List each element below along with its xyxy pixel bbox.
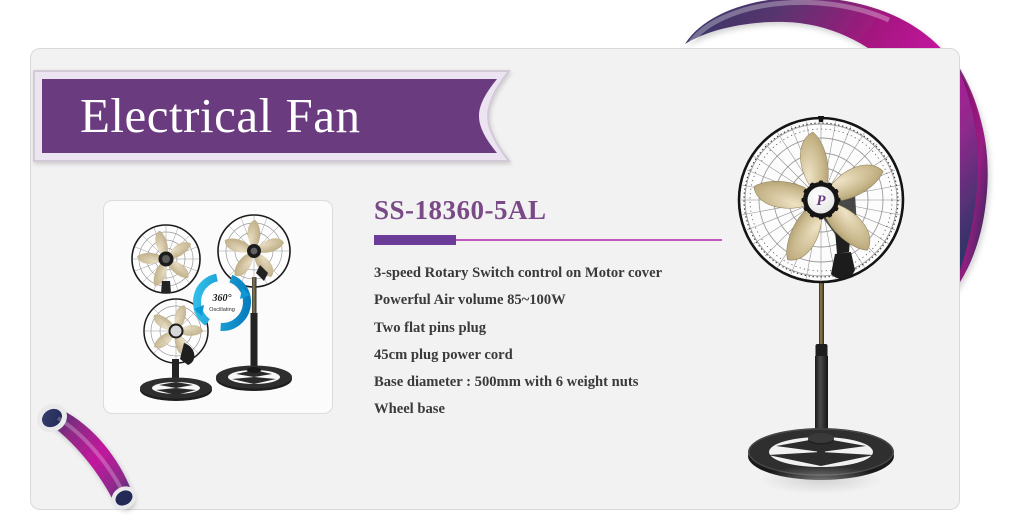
list-item: 3-speed Rotary Switch control on Motor c…: [374, 266, 724, 281]
divider: [374, 234, 722, 246]
badge-degrees: 360°: [212, 293, 232, 304]
specification-list: 3-speed Rotary Switch control on Motor c…: [374, 266, 724, 416]
gallery-image: 360° Oscillating: [104, 201, 332, 413]
thumbnail-gallery[interactable]: 360° Oscillating: [103, 200, 333, 414]
page-title: Electrical Fan: [32, 68, 472, 164]
divider-accent: [374, 235, 456, 245]
list-item: Wheel base: [374, 402, 724, 417]
list-item: Powerful Air volume 85~100W: [374, 293, 724, 308]
list-item: 45cm plug power cord: [374, 348, 724, 363]
product-info: SS-18360-5AL 3-speed Rotary Switch contr…: [374, 196, 724, 429]
product-code: SS-18360-5AL: [374, 196, 724, 224]
hub-logo: P: [816, 193, 826, 209]
list-item: Two flat pins plug: [374, 321, 724, 336]
hero-product-image: P: [726, 108, 921, 498]
banner: Electrical Fan: [32, 68, 512, 164]
list-item: Base diameter : 500mm with 6 weight nuts: [374, 375, 724, 390]
badge-label: Oscillating: [209, 307, 235, 313]
